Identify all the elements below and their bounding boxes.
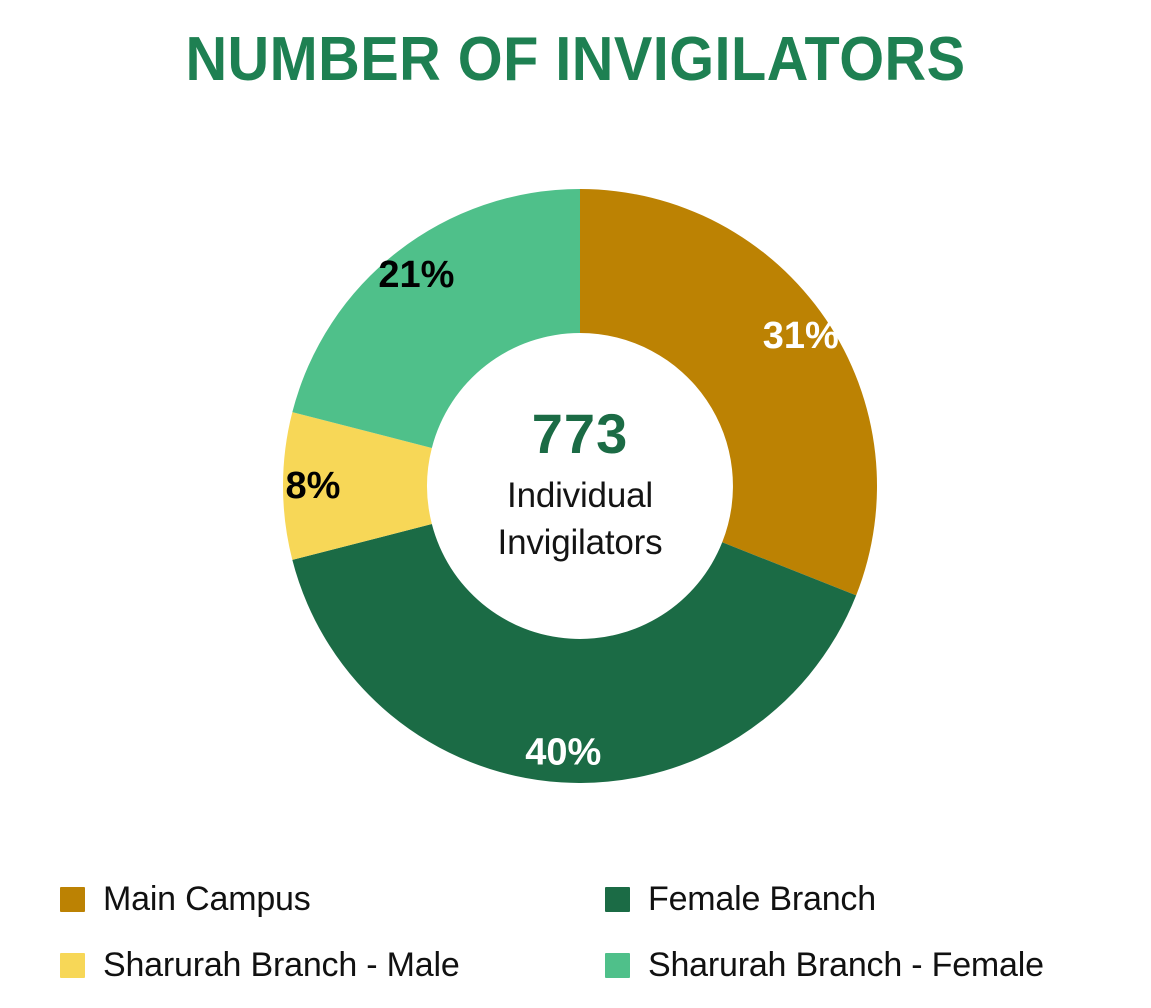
slice-percent-label: 8% — [286, 465, 341, 507]
legend-item-main-campus[interactable]: Main Campus — [60, 882, 605, 916]
slice-percent-label: 21% — [378, 254, 454, 296]
legend-label: Sharurah Branch - Female — [648, 948, 1044, 982]
chart-legend: Main Campus Female Branch Sharurah Branc… — [60, 866, 1130, 998]
donut-slice[interactable] — [292, 189, 580, 448]
donut-slice-group — [283, 189, 877, 783]
slice-percent-label: 31% — [763, 315, 839, 357]
legend-swatch-icon — [605, 953, 630, 978]
legend-label: Main Campus — [103, 882, 311, 916]
legend-label: Sharurah Branch - Male — [103, 948, 460, 982]
legend-item-sharurah-male[interactable]: Sharurah Branch - Male — [60, 948, 605, 982]
legend-swatch-icon — [60, 887, 85, 912]
donut-slice[interactable] — [580, 189, 877, 595]
donut-chart-svg: 31%40%8%21% — [283, 189, 877, 783]
legend-item-sharurah-female[interactable]: Sharurah Branch - Female — [605, 948, 1130, 982]
legend-swatch-icon — [60, 953, 85, 978]
donut-chart: 31%40%8%21% — [283, 189, 877, 783]
page-title: NUMBER OF INVIGILATORS — [40, 26, 1110, 94]
legend-swatch-icon — [605, 887, 630, 912]
slice-percent-label: 40% — [525, 731, 601, 773]
legend-label: Female Branch — [648, 882, 876, 916]
legend-item-female-branch[interactable]: Female Branch — [605, 882, 1130, 916]
